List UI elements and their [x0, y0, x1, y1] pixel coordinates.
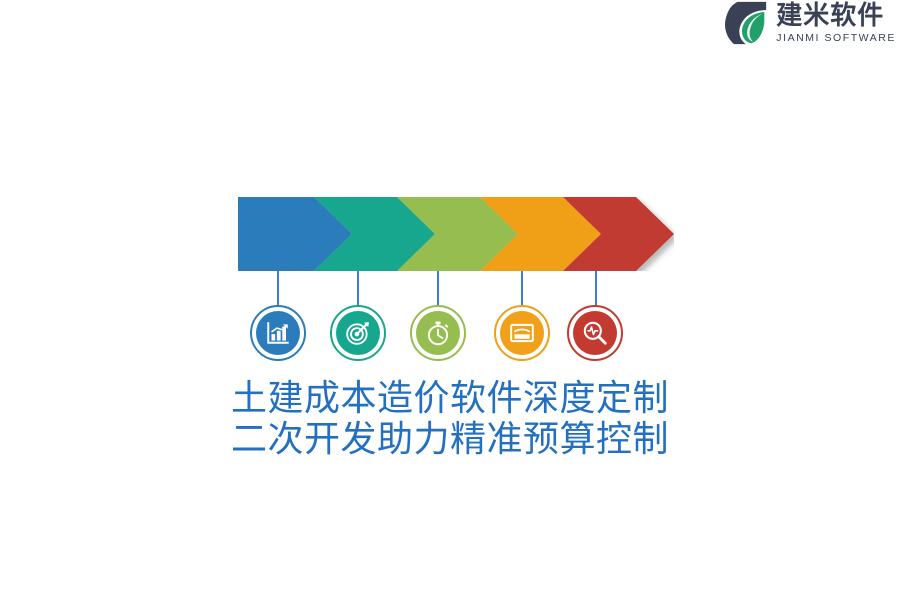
- whiteboard-icon: [509, 320, 535, 346]
- connector-line-3: [437, 271, 439, 305]
- brand-name-en: JIANMI SOFTWARE: [776, 33, 896, 44]
- search-pulse-icon: [582, 320, 608, 346]
- connector-line-1: [277, 271, 279, 305]
- icon-circle-bar-chart[interactable]: [250, 305, 306, 361]
- icon-circle-stopwatch[interactable]: [410, 305, 466, 361]
- icon-circle-search-pulse[interactable]: [567, 305, 623, 361]
- chevron-banner: [238, 197, 674, 271]
- icon-disc: [256, 311, 300, 355]
- headline: 土建成本造价软件深度定制 二次开发助力精准预算控制: [0, 378, 900, 460]
- brand-logo: 建米软件 JIANMI SOFTWARE: [722, 0, 896, 46]
- headline-line-2: 二次开发助力精准预算控制: [0, 419, 900, 460]
- icon-disc: [416, 311, 460, 355]
- connector-line-2: [357, 271, 359, 305]
- target-icon: [345, 320, 371, 346]
- icon-disc: [573, 311, 617, 355]
- jianmi-leaf-logo-icon: [722, 0, 768, 46]
- icon-disc: [500, 311, 544, 355]
- brand-logo-text: 建米软件 JIANMI SOFTWARE: [776, 3, 896, 44]
- connector-line-4: [521, 271, 523, 305]
- stopwatch-icon: [425, 320, 451, 346]
- brand-name-cn: 建米软件: [776, 3, 896, 30]
- icon-disc: [336, 311, 380, 355]
- bar-chart-icon: [265, 320, 291, 346]
- icon-circle-target[interactable]: [330, 305, 386, 361]
- connector-line-5: [595, 271, 597, 305]
- headline-line-1: 土建成本造价软件深度定制: [0, 378, 900, 419]
- icon-circle-whiteboard[interactable]: [494, 305, 550, 361]
